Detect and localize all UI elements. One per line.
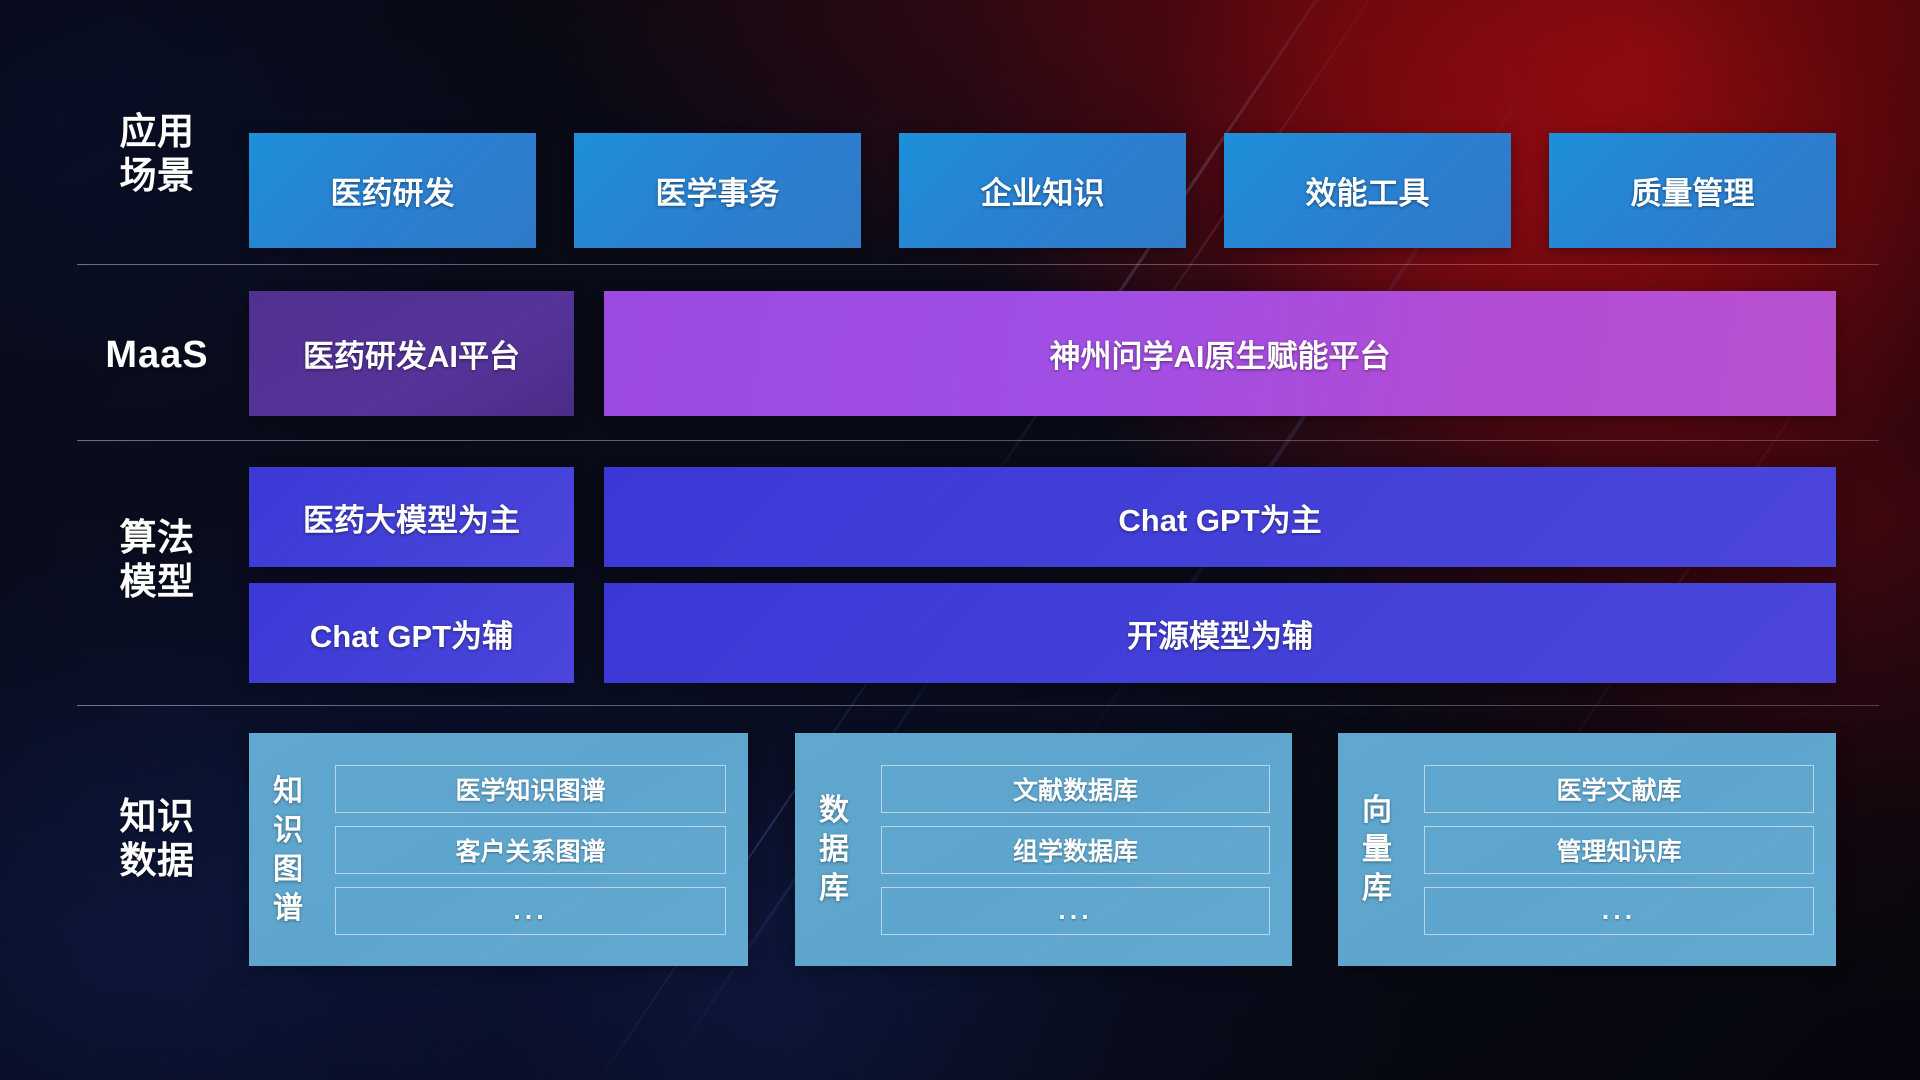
card-label: 企业知识 bbox=[981, 168, 1105, 213]
application-card-medical-rd[interactable]: 医药研发 bbox=[249, 133, 536, 248]
knowledge-item-ellipsis[interactable]: ... bbox=[1424, 887, 1814, 935]
row-label-line: 场景 bbox=[77, 154, 237, 198]
knowledge-panel-knowledge-graph[interactable]: 知 识 图 谱 医学知识图谱 客户关系图谱 ... bbox=[249, 733, 748, 966]
row-label-maas: MaaS bbox=[77, 333, 237, 378]
knowledge-panel-title: 知 识 图 谱 bbox=[249, 733, 327, 966]
knowledge-item[interactable]: 医学文献库 bbox=[1424, 765, 1814, 813]
knowledge-panel-title: 数 据 库 bbox=[795, 733, 873, 966]
knowledge-panel-items: 文献数据库 组学数据库 ... bbox=[873, 733, 1292, 966]
card-label: 医学事务 bbox=[656, 168, 780, 213]
row-label-line: 应用 bbox=[77, 110, 237, 154]
card-label: Chat GPT为辅 bbox=[310, 611, 513, 656]
knowledge-panel-database[interactable]: 数 据 库 文献数据库 组学数据库 ... bbox=[795, 733, 1292, 966]
row-label-line: MaaS bbox=[77, 333, 237, 378]
panel-title-char: 向 bbox=[1362, 791, 1392, 830]
panel-title-char: 库 bbox=[1362, 869, 1392, 908]
knowledge-panel-title: 向 量 库 bbox=[1338, 733, 1416, 966]
knowledge-item[interactable]: 组学数据库 bbox=[881, 826, 1270, 874]
knowledge-item[interactable]: 文献数据库 bbox=[881, 765, 1270, 813]
knowledge-item-ellipsis[interactable]: ... bbox=[881, 887, 1270, 935]
card-label: 神州问学AI原生赋能平台 bbox=[1050, 331, 1391, 376]
row-divider-maas-algorithm bbox=[77, 440, 1879, 441]
row-label-line: 数据 bbox=[77, 839, 237, 883]
panel-title-char: 库 bbox=[819, 869, 849, 908]
application-card-efficiency-tools[interactable]: 效能工具 bbox=[1224, 133, 1511, 248]
row-label-line: 模型 bbox=[77, 560, 237, 604]
panel-title-char: 量 bbox=[1362, 830, 1392, 869]
row-divider-algorithm-knowledge bbox=[77, 705, 1879, 706]
panel-title-char: 图 bbox=[273, 850, 303, 889]
row-label-algorithm: 算法 模型 bbox=[77, 516, 237, 603]
knowledge-panel-items: 医学文献库 管理知识库 ... bbox=[1416, 733, 1836, 966]
card-label: 医药研发AI平台 bbox=[303, 331, 520, 376]
row-label-application: 应用 场景 bbox=[77, 110, 237, 197]
knowledge-item[interactable]: 医学知识图谱 bbox=[335, 765, 726, 813]
row-label-line: 算法 bbox=[77, 516, 237, 560]
card-label: 质量管理 bbox=[1631, 168, 1755, 213]
algorithm-card-opensource-secondary[interactable]: 开源模型为辅 bbox=[604, 583, 1836, 683]
algorithm-card-chatgpt-secondary[interactable]: Chat GPT为辅 bbox=[249, 583, 574, 683]
card-label: 开源模型为辅 bbox=[1127, 611, 1313, 656]
card-label: 效能工具 bbox=[1306, 168, 1430, 213]
application-card-quality-management[interactable]: 质量管理 bbox=[1549, 133, 1836, 248]
panel-title-char: 知 bbox=[273, 772, 303, 811]
application-card-enterprise-knowledge[interactable]: 企业知识 bbox=[899, 133, 1186, 248]
maas-card-shenzhou-wenxue-platform[interactable]: 神州问学AI原生赋能平台 bbox=[604, 291, 1836, 416]
diagram-canvas: 应用 场景 医药研发 医学事务 企业知识 效能工具 质量管理 MaaS 医药研发… bbox=[0, 0, 1920, 1080]
row-label-line: 知识 bbox=[77, 795, 237, 839]
knowledge-panel-items: 医学知识图谱 客户关系图谱 ... bbox=[327, 733, 748, 966]
panel-title-char: 数 bbox=[819, 791, 849, 830]
application-card-medical-affairs[interactable]: 医学事务 bbox=[574, 133, 861, 248]
card-label: Chat GPT为主 bbox=[1118, 495, 1321, 540]
row-divider-application-maas bbox=[77, 264, 1879, 265]
knowledge-panel-vector-store[interactable]: 向 量 库 医学文献库 管理知识库 ... bbox=[1338, 733, 1836, 966]
panel-title-char: 识 bbox=[273, 811, 303, 850]
knowledge-item[interactable]: 管理知识库 bbox=[1424, 826, 1814, 874]
maas-card-pharma-ai-platform[interactable]: 医药研发AI平台 bbox=[249, 291, 574, 416]
card-label: 医药大模型为主 bbox=[303, 495, 520, 540]
panel-title-char: 谱 bbox=[273, 889, 303, 928]
knowledge-item[interactable]: 客户关系图谱 bbox=[335, 826, 726, 874]
algorithm-card-pharma-llm-primary[interactable]: 医药大模型为主 bbox=[249, 467, 574, 567]
panel-title-char: 据 bbox=[819, 830, 849, 869]
card-label: 医药研发 bbox=[331, 168, 455, 213]
algorithm-card-chatgpt-primary[interactable]: Chat GPT为主 bbox=[604, 467, 1836, 567]
knowledge-item-ellipsis[interactable]: ... bbox=[335, 887, 726, 935]
row-label-knowledge: 知识 数据 bbox=[77, 795, 237, 882]
